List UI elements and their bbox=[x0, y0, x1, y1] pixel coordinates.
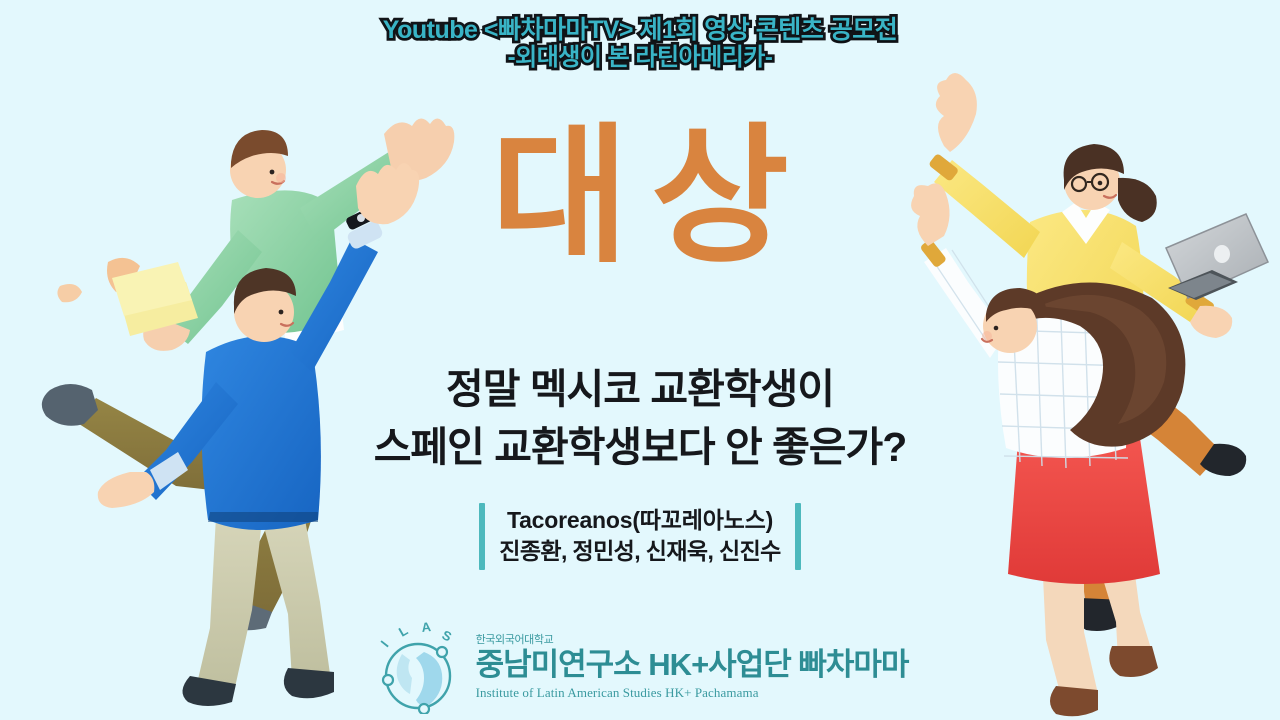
team-members: 진종환, 정민성, 신재욱, 신진수 bbox=[499, 536, 780, 567]
svg-text:I: I bbox=[377, 638, 391, 650]
contest-title-line1: Youtube <빠차마마TV> 제1회 영상 콘텐츠 공모전 bbox=[0, 16, 1280, 44]
svg-text:S: S bbox=[439, 627, 454, 644]
svg-text:L: L bbox=[396, 623, 410, 640]
credits-block: Tacoreanos(따꼬레아노스) 진종환, 정민성, 신재욱, 신진수 bbox=[0, 503, 1280, 570]
logo-institute-ko: 중남미연구소 HK+사업단 빠차마마 bbox=[476, 648, 909, 683]
ilas-globe-icon: I L A S bbox=[372, 618, 464, 714]
video-subtitle-line1: 정말 멕시코 교환학생이 bbox=[0, 360, 1280, 418]
team-name: Tacoreanos(따꼬레아노스) bbox=[499, 505, 780, 536]
logo-institute-en: Institute of Latin American Studies HK+ … bbox=[476, 685, 909, 701]
poster-canvas: Youtube <빠차마마TV> 제1회 영상 콘텐츠 공모전 -외대생이 본 … bbox=[0, 0, 1280, 720]
ilas-logo: I L A S 한국외국어대학교 중남미연구소 HK+사업단 빠차마마 Inst… bbox=[0, 618, 1280, 714]
credits-bar-left bbox=[479, 503, 485, 570]
contest-title: Youtube <빠차마마TV> 제1회 영상 콘텐츠 공모전 -외대생이 본 … bbox=[0, 16, 1280, 72]
svg-text:A: A bbox=[420, 619, 432, 635]
contest-title-line2: -외대생이 본 라틴아메리카- bbox=[0, 45, 1280, 72]
video-subtitle: 정말 멕시코 교환학생이 스페인 교환학생보다 안 좋은가? bbox=[0, 360, 1280, 476]
logo-university: 한국외국어대학교 bbox=[476, 631, 909, 647]
credits-bar-right bbox=[795, 503, 801, 570]
award-label: 대상 bbox=[0, 118, 1280, 276]
video-subtitle-line2: 스페인 교환학생보다 안 좋은가? bbox=[0, 418, 1280, 476]
